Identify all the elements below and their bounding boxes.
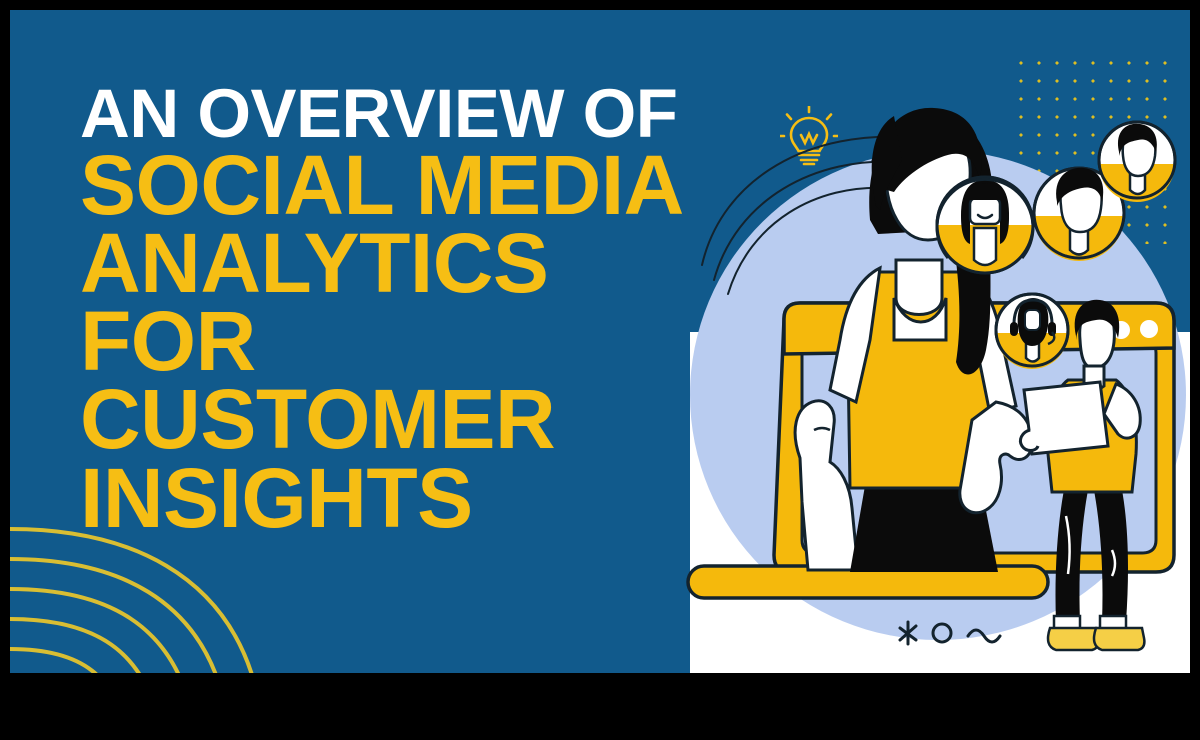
headline-line-2: SOCIAL MEDIA: [80, 146, 740, 224]
avatar-headset-woman[interactable]: [996, 294, 1068, 369]
avatar-curly-hair-man[interactable]: [1099, 122, 1175, 202]
headline-line-5: CUSTOMER: [80, 380, 740, 458]
slide-canvas: AN OVERVIEW OF SOCIAL MEDIA ANALYTICS FO…: [10, 10, 1190, 673]
concentric-arcs-decoration: [10, 517, 330, 673]
left-shoe: [1048, 628, 1098, 650]
page-title: AN OVERVIEW OF SOCIAL MEDIA ANALYTICS FO…: [80, 82, 740, 537]
avatar-bob-haircut-woman[interactable]: [937, 177, 1033, 273]
headline-line-1: AN OVERVIEW OF: [80, 82, 740, 146]
slide-frame: AN OVERVIEW OF SOCIAL MEDIA ANALYTICS FO…: [0, 0, 1200, 740]
headline-line-4: FOR: [80, 302, 740, 380]
analytics-illustration: [680, 10, 1190, 673]
illustration-panel: [680, 10, 1190, 673]
headline-line-3: ANALYTICS: [80, 224, 740, 302]
right-shoe: [1094, 628, 1144, 650]
neck: [896, 260, 942, 315]
window-dot-3[interactable]: [1140, 320, 1158, 338]
